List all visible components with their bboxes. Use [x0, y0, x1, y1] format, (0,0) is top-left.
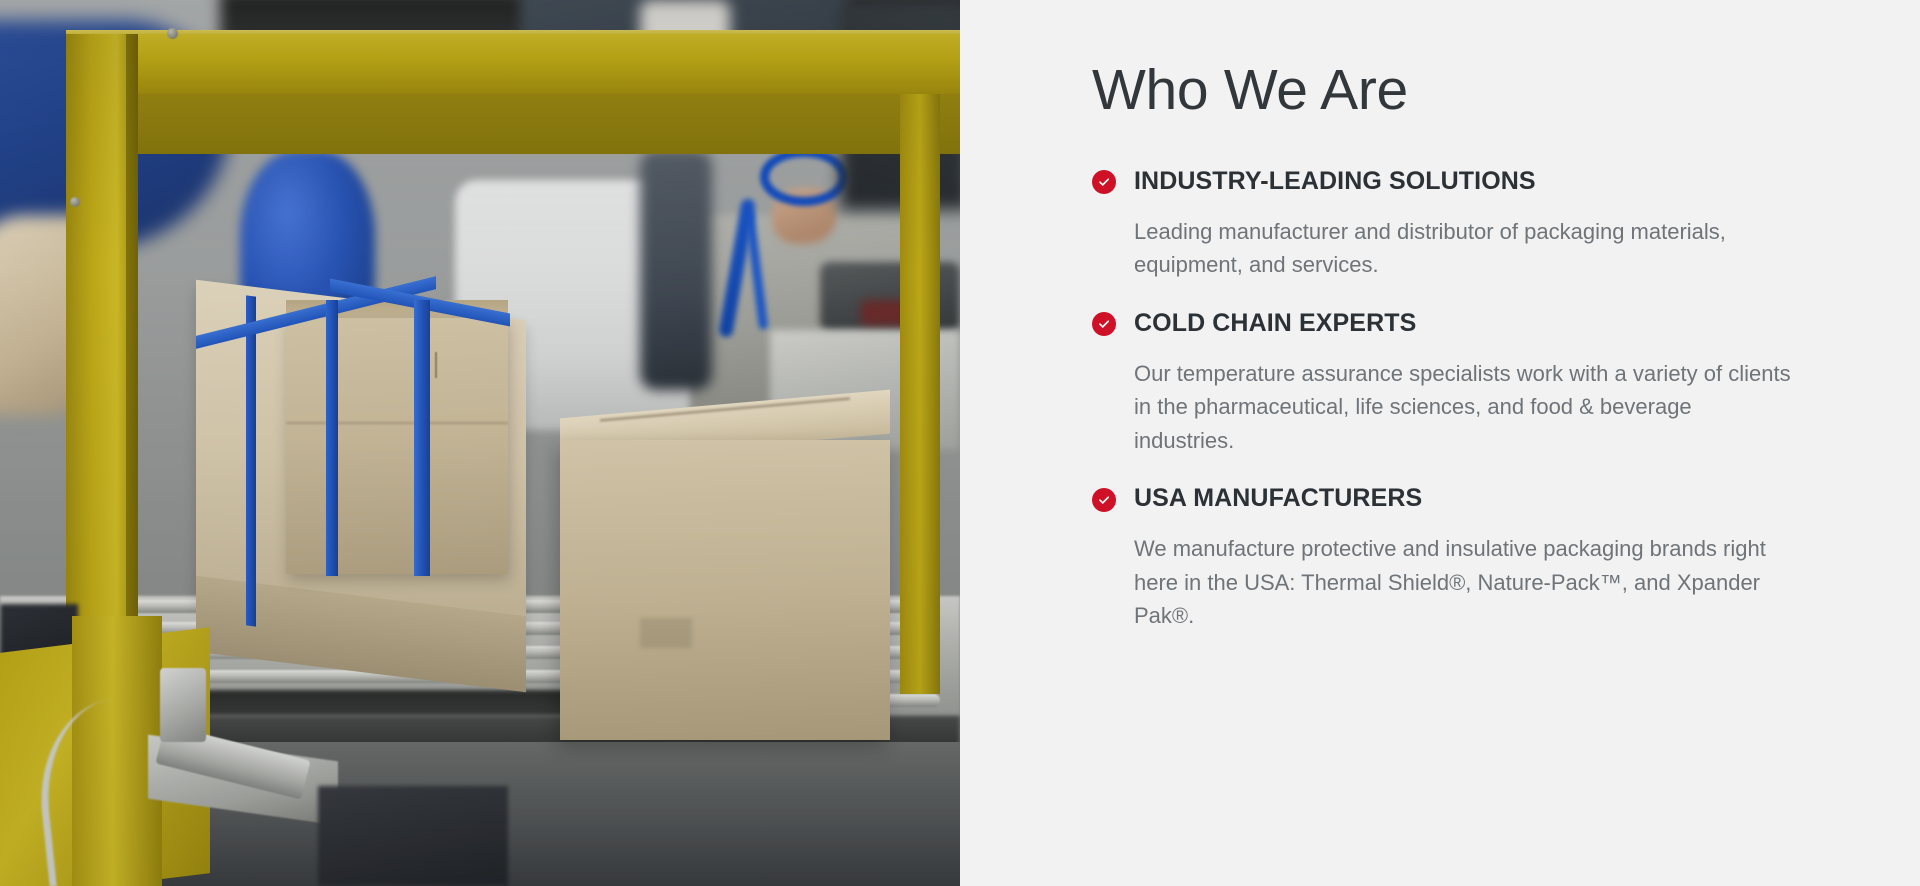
photo-foreground-dark-housing [318, 786, 508, 886]
check-circle-icon [1092, 170, 1116, 194]
feature-heading-row: INDUSTRY-LEADING SOLUTIONS [1092, 166, 1792, 197]
photo-machine-frame-top [66, 34, 960, 94]
photo-strap-band [414, 300, 430, 576]
photo-frame-bolt [70, 197, 80, 207]
photo-box-label [640, 618, 692, 648]
feature-list: INDUSTRY-LEADING SOLUTIONS Leading manuf… [1092, 166, 1792, 633]
page-root: Who We Are INDUSTRY-LEADING SOLUTIONS Le… [0, 0, 1920, 886]
photo-strap-band [326, 300, 338, 576]
photo-frame-bolt [167, 28, 178, 39]
feature-description: We manufacture protective and insulative… [1092, 532, 1792, 632]
check-circle-icon [1092, 312, 1116, 336]
feature-title: INDUSTRY-LEADING SOLUTIONS [1134, 166, 1536, 197]
feature-description: Leading manufacturer and distributor of … [1092, 215, 1792, 282]
feature-heading-row: COLD CHAIN EXPERTS [1092, 308, 1792, 339]
photo-strap-band [246, 295, 256, 626]
feature-title: USA MANUFACTURERS [1134, 483, 1422, 514]
content-panel: Who We Are INDUSTRY-LEADING SOLUTIONS Le… [960, 0, 1920, 886]
check-circle-icon [1092, 488, 1116, 512]
photo-machine-frame-top-shadow [66, 94, 960, 154]
feature-description: Our temperature assurance specialists wo… [1092, 357, 1792, 457]
photo-cardboard-box-front [560, 440, 890, 740]
photo-cardboard-box-main [286, 318, 508, 574]
photo-box-crease [286, 422, 508, 424]
feature-item: COLD CHAIN EXPERTS Our temperature assur… [1092, 308, 1792, 458]
photo-stage [0, 0, 960, 886]
page-title: Who We Are [1092, 58, 1920, 124]
feature-title: COLD CHAIN EXPERTS [1134, 308, 1416, 339]
photo-worker-leg [640, 150, 712, 390]
feature-item: INDUSTRY-LEADING SOLUTIONS Leading manuf… [1092, 166, 1792, 282]
photo-box-score-mark [435, 352, 437, 378]
photo-blue-strap-coil [760, 148, 848, 206]
feature-heading-row: USA MANUFACTURERS [1092, 483, 1792, 514]
feature-item: USA MANUFACTURERS We manufacture protect… [1092, 483, 1792, 633]
photo-machine-frame-right [900, 94, 940, 694]
hero-photo [0, 0, 960, 886]
